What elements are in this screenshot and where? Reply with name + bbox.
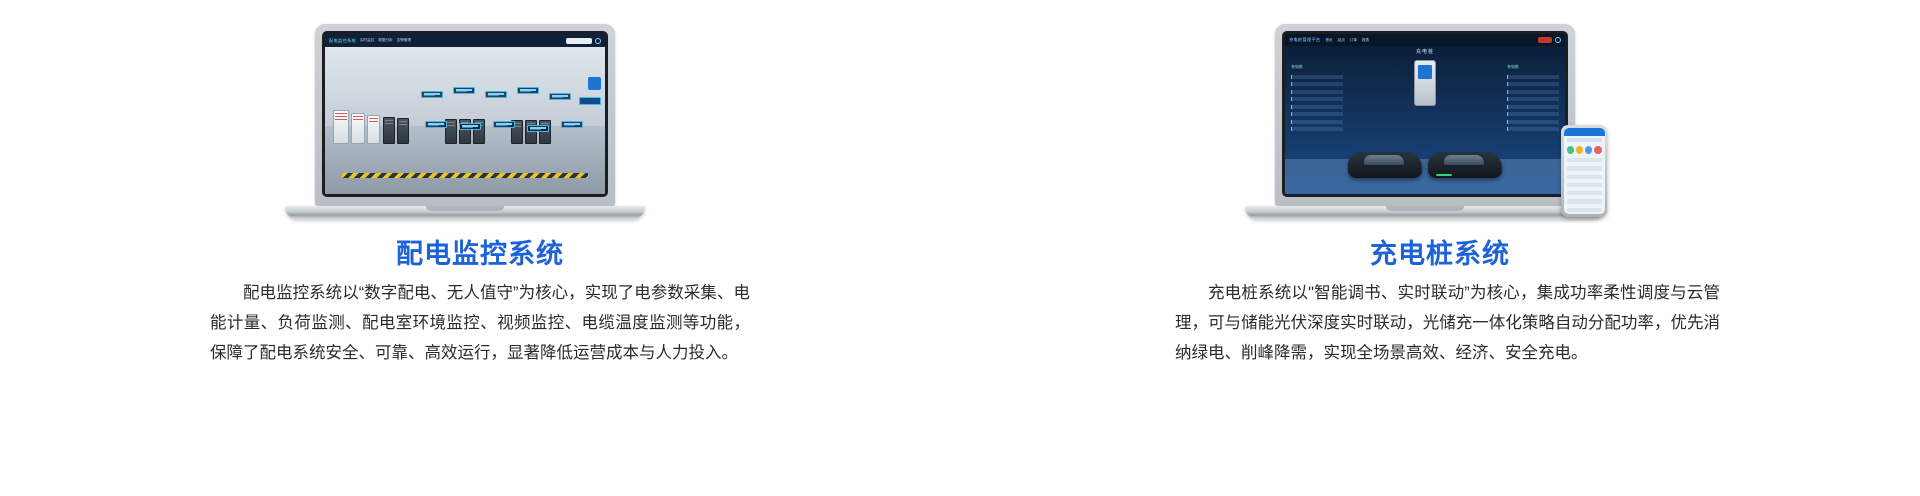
switchgear-cabinet[interactable]	[333, 110, 349, 144]
scene-header-label: 充电桩	[1285, 48, 1565, 55]
device-detail-chip[interactable]	[579, 97, 601, 105]
alarm-badge[interactable]	[1538, 37, 1552, 43]
laptop-bezel: 充电桩管理平台 首页 站点 订单 报表 充电桩 充电	[1282, 31, 1568, 197]
phone-app-header	[1564, 128, 1605, 136]
nav-item-orders[interactable]: 订单	[1350, 38, 1357, 43]
user-avatar-icon[interactable]	[1555, 37, 1561, 43]
mobile-app-mockup	[1561, 125, 1607, 217]
list-item[interactable]	[1507, 120, 1559, 124]
nav-item-home[interactable]: 首页	[1325, 38, 1332, 43]
list-item[interactable]	[1507, 97, 1559, 101]
product-description: 配电监控系统以“数字配电、无人值守”为核心，实现了电参数采集、电能计量、负荷监测…	[0, 278, 960, 368]
pile-display-screen	[1418, 65, 1432, 79]
phone-list-item[interactable]	[1567, 191, 1602, 195]
product-showcase: 配电监控系统 实时监控 数据分析 告警管理	[0, 0, 1920, 496]
phone-list-item[interactable]	[1567, 175, 1602, 179]
product-description: 充电桩系统以"智能调书、实时联动”为核心，集成功率柔性调度与云管理，可与储能光伏…	[960, 278, 1920, 368]
switchgear-cabinet[interactable]	[525, 120, 537, 144]
app-brand-label: 配电监控系统	[329, 38, 356, 44]
right-panel-title: 充电桩	[1507, 64, 1559, 70]
list-item[interactable]	[1507, 75, 1559, 79]
nav-item-stations[interactable]: 站点	[1338, 38, 1345, 43]
laptop-mockup-charging-pile: 充电桩管理平台 首页 站点 订单 报表 充电桩 充电	[1275, 24, 1605, 219]
user-avatar-icon[interactable]	[595, 38, 601, 44]
laptop-trackpad-notch	[426, 206, 504, 211]
list-item[interactable]	[1291, 75, 1343, 79]
device-data-tag[interactable]	[527, 125, 549, 132]
list-item[interactable]	[1507, 82, 1559, 86]
laptop-base	[285, 206, 645, 219]
device-data-tag[interactable]	[517, 87, 539, 94]
phone-list-item[interactable]	[1567, 166, 1602, 170]
list-item[interactable]	[1291, 82, 1343, 86]
page-title: 充电桩系统	[960, 232, 1920, 271]
app-topbar: 充电桩管理平台 首页 站点 订单 报表	[1285, 34, 1565, 46]
list-item[interactable]	[1291, 97, 1343, 101]
laptop-bezel: 配电监控系统 实时监控 数据分析 告警管理	[322, 31, 608, 197]
list-item[interactable]	[1507, 105, 1559, 109]
device-data-tag[interactable]	[421, 91, 443, 98]
phone-list-item[interactable]	[1567, 199, 1602, 203]
product-card-power-distribution: 配电监控系统 实时监控 数据分析 告警管理	[0, 0, 960, 496]
hazard-stripe	[342, 173, 588, 178]
left-panel-title: 充电桩	[1291, 64, 1343, 70]
switchgear-cabinet[interactable]	[383, 117, 395, 144]
laptop-mockup-power-distribution: 配电监控系统 实时监控 数据分析 告警管理	[315, 24, 645, 219]
fullscreen-button[interactable]	[588, 77, 601, 90]
app-brand-label: 充电桩管理平台	[1289, 37, 1320, 43]
charging-pile-unit[interactable]	[1414, 60, 1436, 106]
app-topbar: 配电监控系统 实时监控 数据分析 告警管理	[325, 34, 605, 47]
phone-list-item[interactable]	[1567, 183, 1602, 187]
phone-list-item[interactable]	[1567, 138, 1602, 142]
device-data-tag[interactable]	[561, 121, 583, 128]
left-data-panel[interactable]: 充电桩	[1291, 64, 1343, 131]
list-item[interactable]	[1291, 90, 1343, 94]
switchgear-cabinet[interactable]	[397, 118, 409, 144]
device-data-tag[interactable]	[493, 121, 515, 128]
topbar-actions	[566, 38, 601, 44]
switchgear-cabinet[interactable]	[367, 115, 380, 144]
nav-item-alarm[interactable]: 告警管理	[397, 38, 411, 43]
screen-power-distribution: 配电监控系统 实时监控 数据分析 告警管理	[325, 34, 605, 194]
charging-pile-3d[interactable]	[1396, 60, 1454, 106]
search-input[interactable]	[566, 38, 592, 44]
laptop-base	[1245, 206, 1605, 219]
phone-list-item[interactable]	[1567, 158, 1602, 162]
device-data-tag[interactable]	[485, 91, 507, 98]
screen-charging-pile: 充电桩管理平台 首页 站点 订单 报表 充电桩 充电	[1285, 34, 1565, 194]
list-item[interactable]	[1507, 127, 1559, 131]
vehicles-group	[1348, 152, 1502, 178]
phone-list-item[interactable]	[1567, 208, 1602, 212]
nav-item-realtime[interactable]: 实时监控	[360, 38, 374, 43]
laptop-lid: 配电监控系统 实时监控 数据分析 告警管理	[315, 24, 615, 206]
list-item[interactable]	[1291, 120, 1343, 124]
nav-item-reports[interactable]: 报表	[1362, 38, 1369, 43]
electric-car-charging[interactable]	[1428, 152, 1502, 178]
device-data-tag[interactable]	[459, 123, 481, 130]
right-data-panel[interactable]: 充电桩	[1507, 64, 1559, 131]
switchgear-cabinet[interactable]	[539, 120, 551, 144]
nav-item-analytics[interactable]: 数据分析	[378, 38, 392, 43]
substation-3d-scene[interactable]	[325, 47, 605, 194]
list-item[interactable]	[1507, 112, 1559, 116]
page-title: 配电监控系统	[0, 232, 960, 271]
list-item[interactable]	[1291, 127, 1343, 131]
device-data-tag[interactable]	[453, 87, 475, 94]
topbar-actions	[1538, 37, 1561, 43]
list-item[interactable]	[1507, 90, 1559, 94]
electric-car[interactable]	[1348, 152, 1422, 178]
laptop-trackpad-notch	[1386, 206, 1464, 211]
phone-quick-actions[interactable]	[1567, 146, 1602, 154]
list-item[interactable]	[1291, 112, 1343, 116]
product-card-charging-pile: 充电桩管理平台 首页 站点 订单 报表 充电桩 充电	[960, 0, 1920, 496]
laptop-lid: 充电桩管理平台 首页 站点 订单 报表 充电桩 充电	[1275, 24, 1575, 206]
device-data-tag[interactable]	[425, 121, 447, 128]
device-data-tag[interactable]	[549, 93, 571, 100]
list-item[interactable]	[1291, 105, 1343, 109]
switchgear-cabinet[interactable]	[351, 113, 365, 144]
phone-screen	[1564, 128, 1605, 214]
